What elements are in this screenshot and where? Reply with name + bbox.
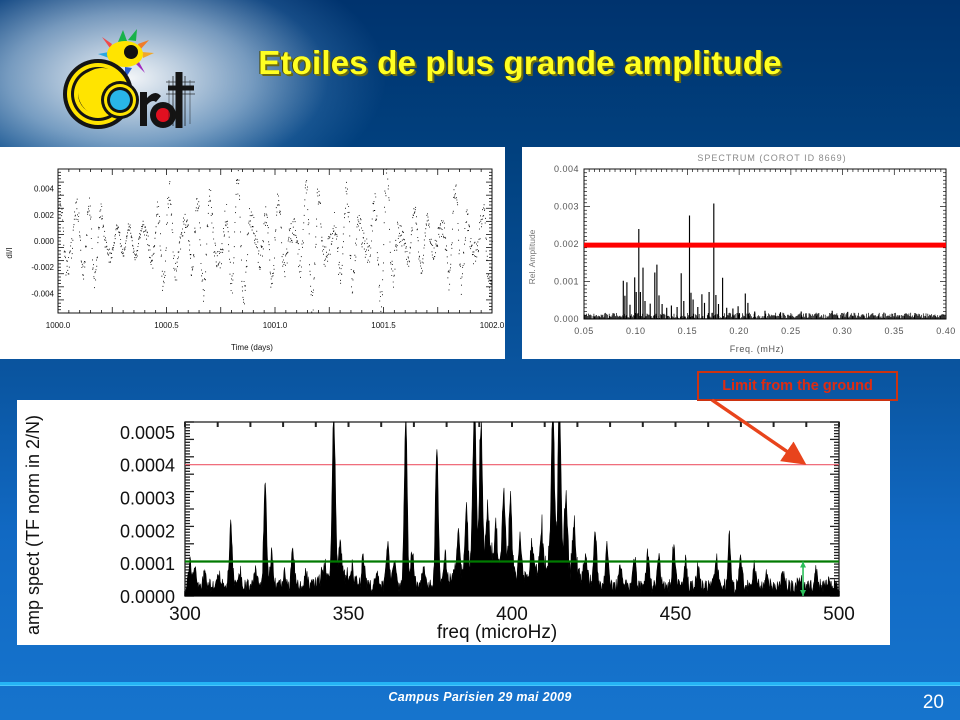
svg-text:0.0001: 0.0001 — [120, 554, 175, 574]
corot-logo-svg — [52, 16, 202, 134]
svg-text:0.30: 0.30 — [833, 326, 853, 336]
lightcurve-tick-labels: 1000.01000.51001.01001.51002.00.0040.002… — [31, 185, 504, 330]
svg-text:0.20: 0.20 — [729, 326, 749, 336]
svg-text:0.001: 0.001 — [554, 277, 579, 287]
svg-text:0.05: 0.05 — [574, 326, 594, 336]
ampspect-ylabel: amp spect (TF norm in 2/N) — [23, 415, 43, 635]
svg-text:0.15: 0.15 — [678, 326, 698, 336]
lightcurve-ylabel: dI/I — [5, 247, 14, 258]
callout-label: Limit from the ground — [722, 378, 873, 394]
svg-text:1000.5: 1000.5 — [154, 321, 179, 330]
svg-text:0.35: 0.35 — [885, 326, 905, 336]
page-title: Etoiles de plus grande amplitude — [200, 44, 840, 82]
spectrum-ylabel: Rel. Amplitude — [527, 229, 537, 284]
svg-text:0.0005: 0.0005 — [120, 423, 175, 443]
svg-text:0.0004: 0.0004 — [120, 456, 175, 476]
corot-letter-o2 — [150, 102, 176, 128]
lightcurve-xlabel: Time (days) — [231, 343, 273, 352]
footer-text: Campus Parisien 29 mai 2009 — [0, 690, 960, 704]
spectrum-data — [584, 204, 946, 320]
svg-text:0.002: 0.002 — [554, 239, 579, 249]
chart-lightcurve: 1000.01000.51001.01001.51002.00.0040.002… — [0, 147, 505, 359]
spectrum-svg: SPECTRUM (COROT ID 8669) 0.050.100.150.2… — [522, 147, 960, 359]
lightcurve-axes — [58, 169, 492, 313]
corot-logo — [52, 16, 202, 134]
svg-text:0.0000: 0.0000 — [120, 587, 175, 607]
page-number: 20 — [923, 692, 944, 714]
chart-spectrum: SPECTRUM (COROT ID 8669) 0.050.100.150.2… — [522, 147, 960, 359]
svg-text:300: 300 — [169, 604, 201, 625]
spectrum-xlabel: Freq. (mHz) — [730, 344, 785, 354]
svg-text:-0.004: -0.004 — [31, 289, 54, 298]
svg-text:1001.5: 1001.5 — [371, 321, 396, 330]
svg-text:450: 450 — [660, 604, 692, 625]
svg-text:0.40: 0.40 — [936, 326, 956, 336]
ampspect-xlabel: freq (microHz) — [437, 622, 557, 643]
ampspect-data — [185, 422, 839, 596]
svg-text:500: 500 — [823, 604, 855, 625]
svg-text:1002.0: 1002.0 — [480, 321, 505, 330]
svg-text:350: 350 — [333, 604, 365, 625]
lightcurve-svg: 1000.01000.51001.01001.51002.00.0040.002… — [0, 147, 505, 359]
svg-text:1000.0: 1000.0 — [46, 321, 71, 330]
svg-text:0.002: 0.002 — [34, 211, 55, 220]
limit-from-ground-callout: Limit from the ground — [697, 371, 898, 401]
svg-text:-0.002: -0.002 — [31, 263, 54, 272]
svg-text:0.0003: 0.0003 — [120, 489, 175, 509]
svg-text:0.003: 0.003 — [554, 202, 579, 212]
corot-letter-o — [101, 81, 139, 119]
ampspect-svg: 3003504004505000.00050.00040.00030.00020… — [17, 400, 890, 645]
svg-text:0.004: 0.004 — [34, 185, 55, 194]
svg-text:0.000: 0.000 — [554, 314, 579, 324]
svg-text:1001.0: 1001.0 — [263, 321, 288, 330]
svg-text:0.004: 0.004 — [554, 164, 579, 174]
svg-text:0.0002: 0.0002 — [120, 521, 175, 541]
footer-divider — [0, 682, 960, 685]
chart-ampspect: 3003504004505000.00050.00040.00030.00020… — [17, 400, 890, 645]
spectrum-tick-labels: 0.050.100.150.200.250.300.350.400.0040.0… — [554, 164, 956, 336]
spectrum-title: SPECTRUM (COROT ID 8669) — [697, 153, 846, 163]
svg-text:0.000: 0.000 — [34, 237, 55, 246]
slide-root: Etoiles de plus grande amplitude 1000.01… — [0, 0, 960, 720]
svg-text:0.25: 0.25 — [781, 326, 801, 336]
lightcurve-data — [58, 169, 493, 313]
svg-text:0.10: 0.10 — [626, 326, 646, 336]
